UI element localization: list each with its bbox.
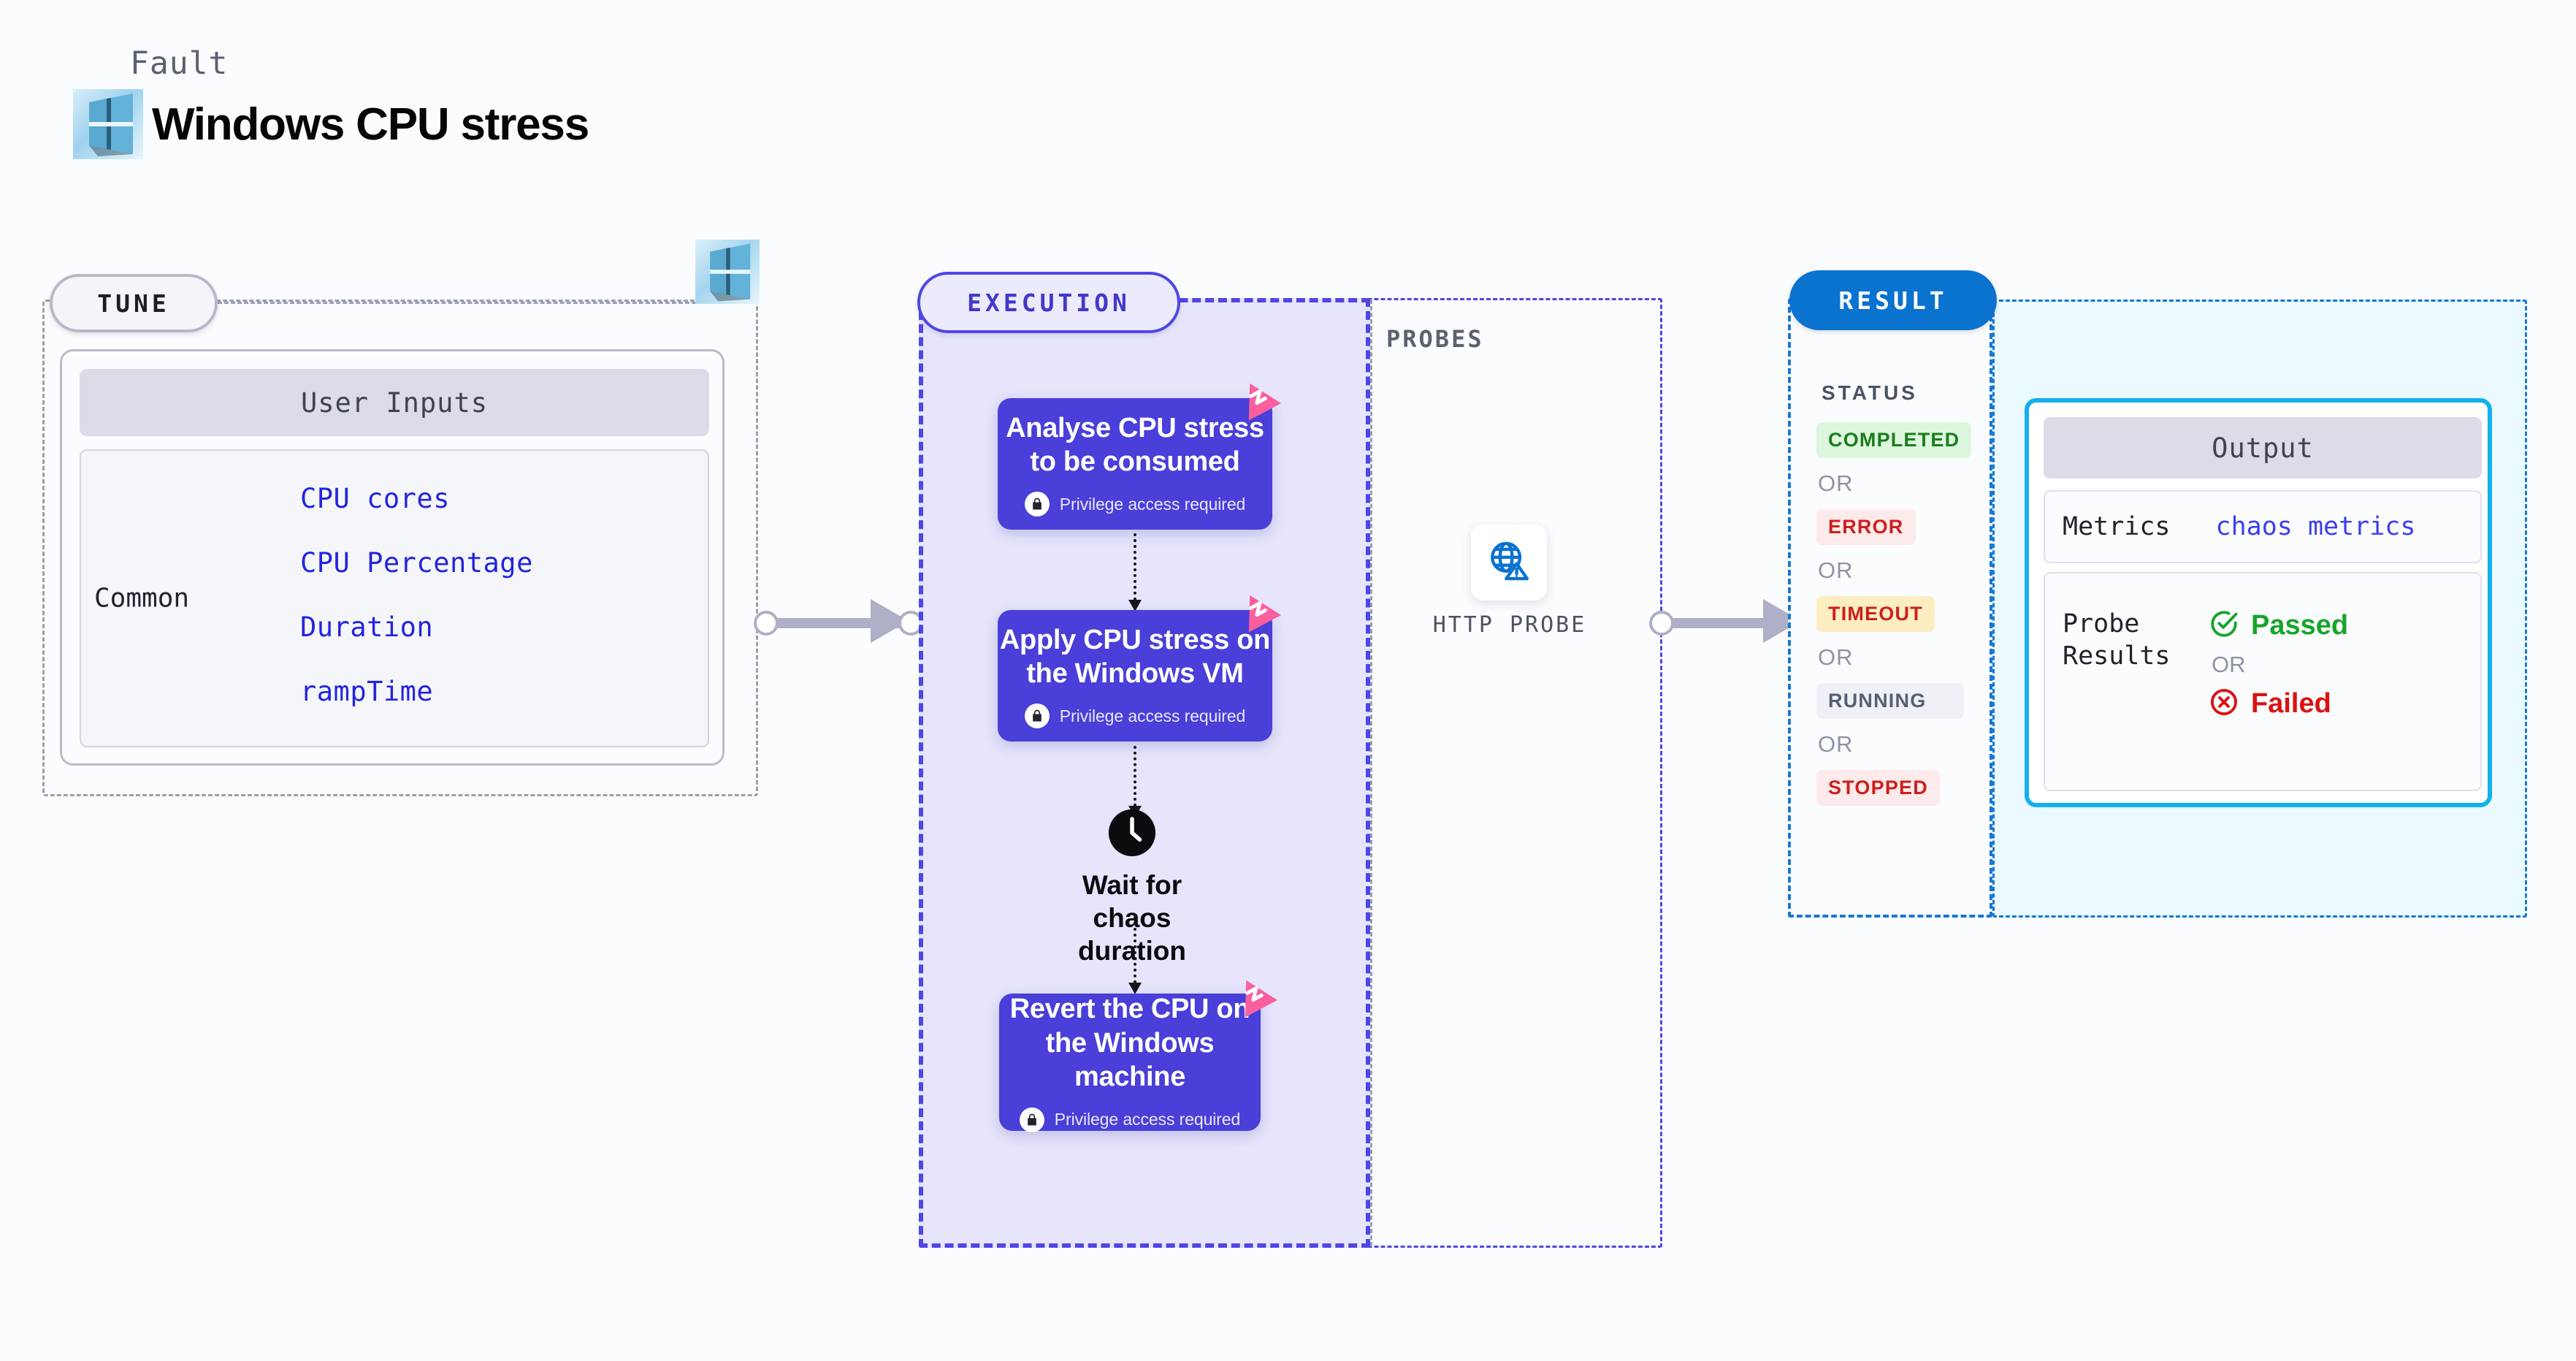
execution-node-analyse[interactable]: Analyse CPU stress to be consumed Privil… [998, 398, 1272, 530]
privilege-row: Privilege access required [1025, 492, 1245, 516]
check-circle-icon [2209, 609, 2239, 643]
or-separator: OR [1818, 644, 1984, 671]
execution-node-revert[interactable]: Revert the CPU on the Windows machine Pr… [999, 994, 1261, 1131]
windows-logo-icon [695, 240, 760, 308]
lock-icon [1025, 704, 1050, 728]
node-title: Apply CPU stress on the Windows VM [998, 623, 1272, 691]
parameter-list: CPU cores CPU Percentage Duration rampTi… [300, 483, 680, 707]
execution-node-apply[interactable]: Apply CPU stress on the Windows VM Privi… [998, 610, 1272, 742]
user-inputs-body: Common CPU cores CPU Percentage Duration… [80, 449, 709, 747]
probe-results-key-label: Probe Results [2063, 609, 2201, 673]
execution-section-pill[interactable]: EXECUTION [917, 272, 1180, 333]
privilege-label: Privilege access required [1060, 495, 1245, 514]
privilege-label: Privilege access required [1055, 1110, 1240, 1129]
page-header: Fault [73, 45, 589, 159]
probe-results-values: Passed OR Failed [2209, 609, 2348, 721]
flow-connector-1 [1134, 533, 1136, 601]
status-badge-stopped: STOPPED [1816, 770, 1940, 806]
title-row: Windows CPU stress [73, 89, 589, 159]
probe-results-row: Probe Results Passed OR [2044, 572, 2482, 791]
or-separator: OR [1818, 731, 1984, 758]
tune-connector-line [218, 302, 729, 304]
metrics-row: Metrics chaos metrics [2044, 490, 2482, 563]
clock-icon [1107, 807, 1158, 858]
or-separator: OR [1818, 557, 1984, 584]
status-badge-completed: COMPLETED [1816, 422, 1971, 458]
wait-for-chaos-duration-node: Wait for chaos duration [1052, 807, 1212, 967]
x-circle-icon [2209, 687, 2239, 721]
parameter-cpu-percentage[interactable]: CPU Percentage [300, 547, 680, 579]
windows-logo-icon [73, 89, 143, 159]
failed-label: Failed [2251, 688, 2331, 720]
chaos-badge-icon [1236, 377, 1281, 422]
common-group-label: Common [94, 584, 189, 614]
tune-section-pill[interactable]: TUNE [50, 274, 218, 332]
passed-label: Passed [2251, 610, 2348, 641]
user-inputs-card: User Inputs Common CPU cores CPU Percent… [60, 349, 725, 766]
lock-icon [1025, 492, 1050, 516]
connector-start-dot [1649, 611, 1674, 636]
probe-result-failed: Failed [2209, 687, 2348, 721]
probes-divider [1370, 300, 1372, 1246]
privilege-label: Privilege access required [1060, 706, 1245, 726]
privilege-row: Privilege access required [1025, 704, 1245, 728]
status-badge-error: ERROR [1816, 509, 1916, 545]
status-badge-timeout: TIMEOUT [1816, 596, 1935, 632]
probe-card-http[interactable] [1471, 525, 1547, 601]
status-badge-list: COMPLETED OR ERROR OR TIMEOUT OR RUNNING… [1816, 422, 1984, 806]
probe-label-http: HTTP PROBE [1432, 612, 1588, 638]
node-title: Revert the CPU on the Windows machine [999, 992, 1261, 1094]
connector-start-dot [754, 611, 779, 636]
or-separator: OR [2212, 652, 2348, 678]
flow-connector-3 [1134, 916, 1136, 983]
lock-icon [1020, 1108, 1044, 1132]
user-inputs-header: User Inputs [80, 369, 709, 436]
chaos-badge-icon [1236, 589, 1281, 634]
page-title: Windows CPU stress [152, 99, 589, 150]
metrics-value-link[interactable]: chaos metrics [2216, 512, 2416, 541]
parameter-cpu-cores[interactable]: CPU cores [300, 483, 680, 514]
fault-kicker-label: Fault [130, 45, 589, 82]
parameter-ramptime[interactable]: rampTime [300, 676, 680, 707]
flow-connector-2 [1134, 746, 1136, 807]
globe-warning-icon [1486, 538, 1532, 587]
status-badge-running: RUNNING [1816, 683, 1964, 719]
wait-node-label: Wait for chaos duration [1052, 869, 1212, 967]
probe-result-passed: Passed [2209, 609, 2348, 643]
output-header: Output [2044, 417, 2482, 479]
diagram-canvas: Fault [0, 0, 2576, 1361]
connector-tune-to-execution [754, 599, 936, 643]
result-section-pill[interactable]: RESULT [1789, 270, 1997, 330]
chaos-badge-icon [1232, 974, 1277, 1019]
privilege-row: Privilege access required [1020, 1108, 1240, 1132]
output-card: Output Metrics chaos metrics Probe Resul… [2025, 398, 2492, 807]
metrics-key-label: Metrics [2063, 512, 2171, 541]
status-label: STATUS [1822, 381, 1918, 405]
node-title: Analyse CPU stress to be consumed [998, 411, 1272, 479]
probes-section-label: PROBES [1386, 325, 1484, 353]
or-separator: OR [1818, 470, 1984, 497]
parameter-duration[interactable]: Duration [300, 611, 680, 643]
